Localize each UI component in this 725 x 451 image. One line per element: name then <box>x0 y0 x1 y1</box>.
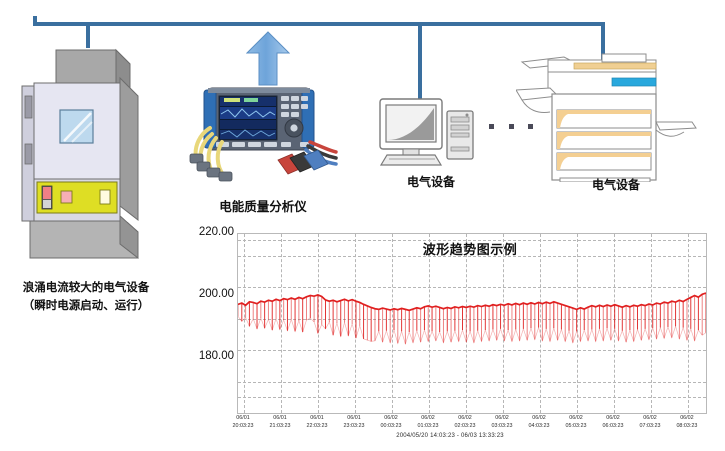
y-tick-label: 180.00 <box>174 350 234 362</box>
network-drop-pc <box>418 22 422 106</box>
chart-x-axis-ticks: 06/0120:03:2306/0121:03:2306/0122:03:230… <box>237 415 705 435</box>
ellipsis-dot <box>489 124 494 129</box>
cabinet-caption: 浪涌电流较大的电气设备 （瞬时电源启动、运行） <box>0 279 172 315</box>
copier-caption: 电气设备 <box>531 176 701 193</box>
network-bus-line <box>33 22 605 26</box>
chart-plot-area <box>237 233 707 414</box>
x-tick-label: 06/0208:03:23 <box>665 415 709 430</box>
desktop-computer-icon <box>377 97 485 169</box>
arrow-up-icon <box>246 31 290 86</box>
y-tick-label: 220.00 <box>174 226 234 238</box>
analyzer-caption: 电能质量分析仪 <box>190 196 336 215</box>
pc-caption: 电气设备 <box>373 173 489 190</box>
power-quality-analyzer-icon <box>186 84 338 190</box>
electrical-cabinet-icon <box>8 48 158 276</box>
chart-y-axis: 220.00 200.00 180.00 <box>172 233 234 412</box>
chart-waveform-series <box>238 234 706 413</box>
chart-title: 波形趋势图示例 <box>395 239 545 258</box>
network-bus-left-cap <box>33 16 37 24</box>
diagram-canvas: 浪涌电流较大的电气设备 （瞬时电源启动、运行） <box>0 0 725 451</box>
chart-range-caption: 2004/05/20 14:03:23 - 06/03 13:33:23 <box>330 433 570 439</box>
cabinet-caption-line2: （瞬时电源启动、运行） <box>0 297 172 315</box>
y-tick-label: 200.00 <box>174 288 234 300</box>
network-drop-cabinet <box>86 22 90 48</box>
copier-printer-icon <box>516 52 716 182</box>
ellipsis-dot <box>509 124 514 129</box>
cabinet-caption-line1: 浪涌电流较大的电气设备 <box>0 279 172 297</box>
